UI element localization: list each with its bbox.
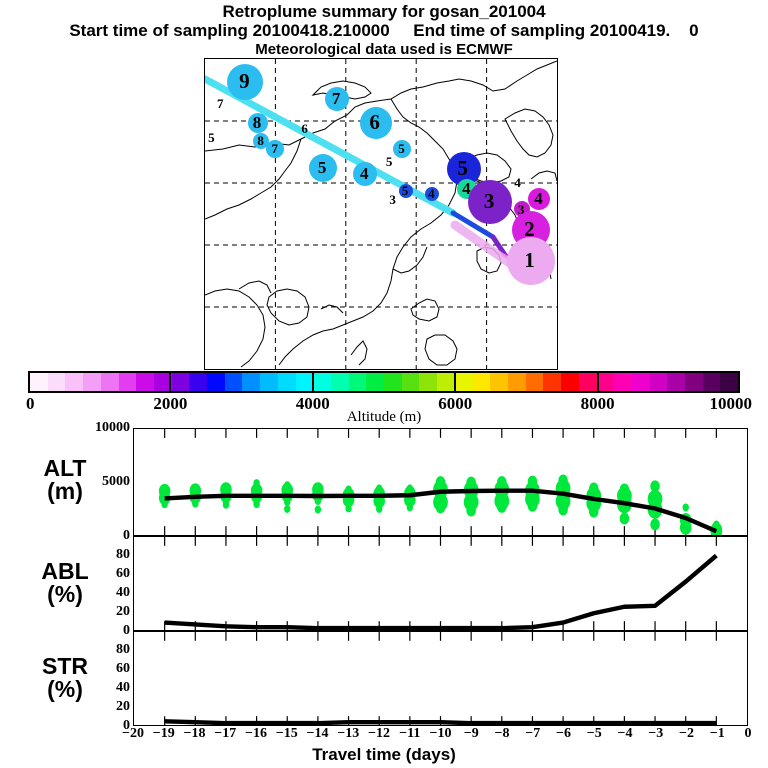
colorbar-swatch [526,373,544,391]
page-title: Retroplume summary for gosan_201004 [0,0,768,21]
retroplume-blob [425,187,439,201]
x-tick-label: 0 [731,726,765,742]
x-tick-label: −10 [424,726,458,742]
colorbar-swatch [331,373,349,391]
colorbar-swatch [419,373,437,391]
colorbar-swatch [101,373,119,391]
colorbar-swatch [296,373,314,391]
x-tick-label: −5 [577,726,611,742]
x-axis-title: Travel time (days) [0,745,768,765]
x-tick-label: −20 [116,726,150,742]
retroplume-blob [468,180,512,224]
colorbar-swatch [561,373,579,391]
colorbar-swatch [508,373,526,391]
y-tick-label: 5000 [70,474,130,490]
x-tick-label: −19 [147,726,181,742]
colorbar-swatch [685,373,703,391]
x-tick-label: −3 [639,726,673,742]
y-tick-label: 60 [70,661,130,677]
colorbar-swatch [614,373,632,391]
colorbar-swatch [349,373,367,391]
x-axis-tick-labels: −20−19−18−17−16−15−14−13−12−11−10−9−8−7−… [0,726,768,746]
x-tick-label: −7 [516,726,550,742]
alt-plot [134,429,747,535]
x-tick-label: −17 [208,726,242,742]
x-tick-label: −8 [485,726,519,742]
colorbar-divider [312,371,314,393]
retroplume-map: 977866875555455344433421 [204,58,558,370]
alt-panel [133,428,748,536]
colorbar-swatch [667,373,685,391]
x-tick-label: −14 [301,726,335,742]
x-tick-label: −11 [393,726,427,742]
colorbar-swatch [136,373,154,391]
retroplume-blob [399,184,413,198]
retroplume-blob [528,188,550,210]
colorbar-swatch [119,373,137,391]
colorbar-swatch [650,373,668,391]
colorbar-swatch [48,373,66,391]
abl-panel [133,536,748,631]
colorbar-swatch [597,373,615,391]
retroplume-blob [309,154,337,182]
axis-ticks [165,537,717,630]
y-tick-label: 80 [70,547,130,563]
colorbar-gradient [28,371,740,393]
colorbar-swatch [384,373,402,391]
colorbar-swatch [242,373,260,391]
retroplume-blob [393,140,411,158]
x-tick-label: −13 [331,726,365,742]
colorbar-swatch [579,373,597,391]
retroplume-blob [360,107,392,139]
colorbar-swatch [83,373,101,391]
sampling-time-line: Start time of sampling 20100418.210000 E… [0,21,768,40]
altitude-colorbar [28,371,740,393]
axis-ticks [165,632,717,725]
colorbar-swatch [437,373,455,391]
colorbar-swatch [402,373,420,391]
x-tick-label: −9 [454,726,488,742]
x-tick-label: −1 [700,726,734,742]
colorbar-swatch [720,373,738,391]
colorbar-swatch [172,373,190,391]
y-tick-label: 80 [70,642,130,658]
y-tick-label: 0 [70,623,130,639]
colorbar-swatch [543,373,561,391]
x-tick-label: −2 [670,726,704,742]
colorbar-swatch [207,373,225,391]
abl-plot [134,537,747,630]
str-panel [133,631,748,726]
x-tick-label: −16 [239,726,273,742]
x-tick-label: −15 [270,726,304,742]
x-tick-label: −4 [608,726,642,742]
retroplume-blob [353,162,377,186]
colorbar-swatch [65,373,83,391]
colorbar-divider [169,371,171,393]
met-data-line: Meteorological data used is ECMWF [0,40,768,59]
colorbar-swatch [313,373,331,391]
y-tick-label: 0 [70,528,130,544]
colorbar-swatch [473,373,491,391]
colorbar-swatch [490,373,508,391]
colorbar-divider [597,371,599,393]
y-tick-label: 20 [70,604,130,620]
colorbar-swatch [278,373,296,391]
y-tick-label: 60 [70,566,130,582]
y-tick-label: 40 [70,680,130,696]
x-tick-label: −18 [178,726,212,742]
colorbar-swatch [30,373,48,391]
y-tick-label: 40 [70,585,130,601]
colorbar-swatch [632,373,650,391]
colorbar-divider [454,371,456,393]
y-tick-label: 20 [70,699,130,715]
y-axis-tick-labels: 1000050000806040200806040200 [62,420,130,740]
y-tick-label: 10000 [70,420,130,436]
x-tick-label: −6 [547,726,581,742]
colorbar-swatch [366,373,384,391]
abl-line [165,556,717,629]
retroplume-blob [248,113,268,133]
str-line [165,721,717,723]
colorbar-swatch [225,373,243,391]
x-tick-label: −12 [362,726,396,742]
colorbar-swatch [703,373,721,391]
str-plot [134,632,747,725]
retroplume-blob [507,237,555,285]
colorbar-swatch [189,373,207,391]
colorbar-swatch [455,373,473,391]
colorbar-swatch [260,373,278,391]
figure-header: Retroplume summary for gosan_201004 Star… [0,0,768,59]
